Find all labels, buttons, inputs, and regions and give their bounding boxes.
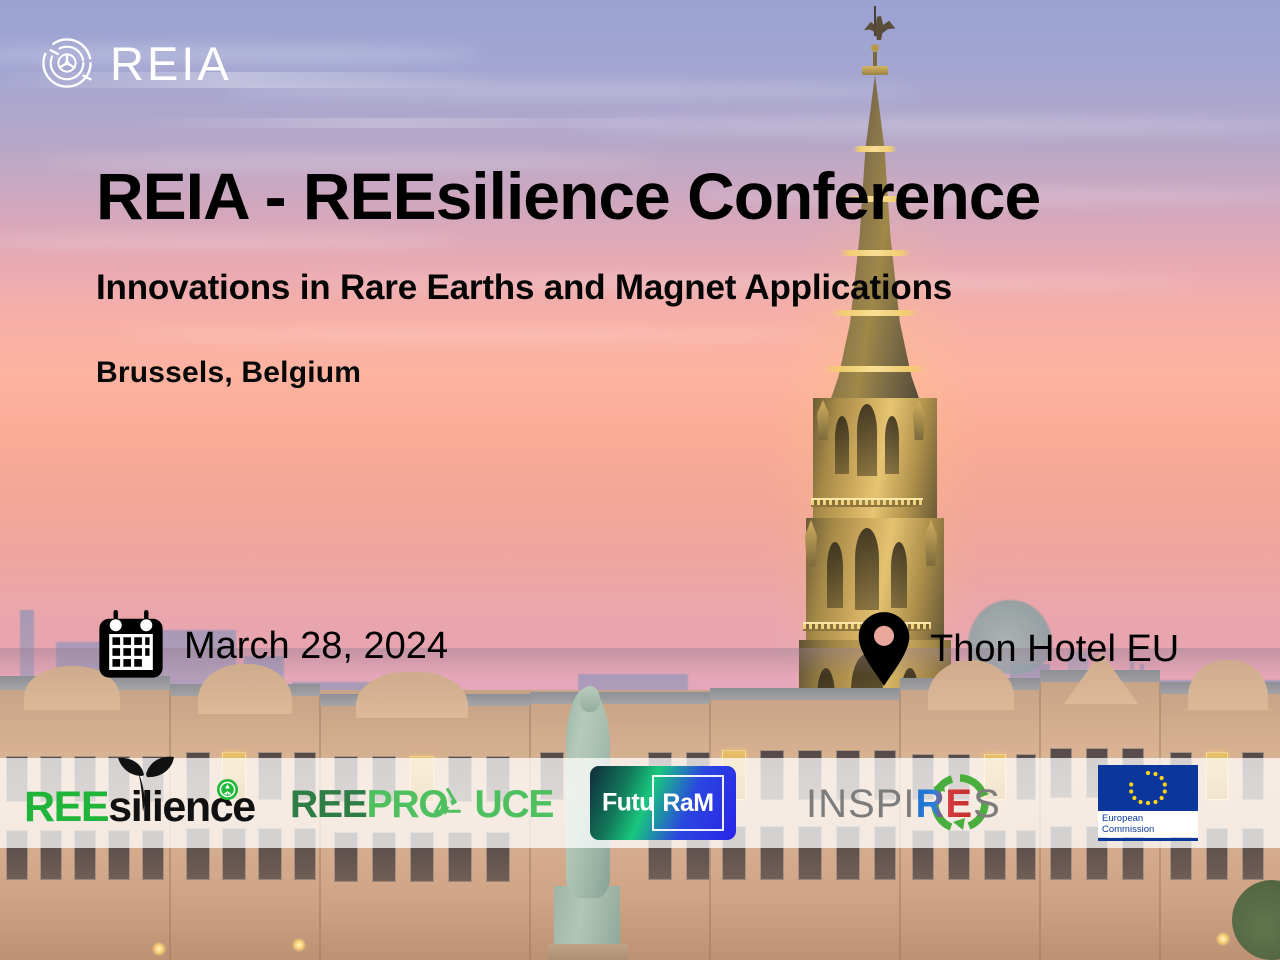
- hero-copy: REIA - REEsilience Conference Innovation…: [96, 162, 1040, 390]
- page-title: REIA - REEsilience Conference: [96, 162, 1040, 231]
- logo-futuram[interactable]: Futu RaM: [588, 758, 738, 848]
- eu-flag-icon: [1098, 765, 1198, 811]
- event-location: Brussels, Belgium: [96, 356, 1040, 390]
- reeproduce-uce: UCE: [474, 783, 553, 826]
- calendar-icon: [96, 610, 166, 682]
- event-details-row: March 28, 2024 Thon Hotel EU: [96, 608, 1192, 690]
- reia-logo[interactable]: REIA: [38, 34, 232, 92]
- recycle-triangle-icon: [425, 781, 469, 825]
- futuram-futu: Futu: [602, 789, 654, 818]
- inspires-wordmark: INSPIRES: [806, 784, 1001, 824]
- inspires-re: RE: [915, 782, 973, 826]
- logo-inspires[interactable]: INSPIRES: [800, 758, 1030, 848]
- event-venue-label: Thon Hotel EU: [930, 628, 1179, 671]
- reeproduce-wordmark: REEPRODUCE: [290, 785, 553, 824]
- map-pin-icon: [856, 610, 912, 688]
- logo-reeproduce[interactable]: REEPRODUCE: [280, 758, 530, 848]
- logo-european-commission[interactable]: European Commission: [1096, 758, 1200, 848]
- recycle-badge-icon: [216, 778, 239, 801]
- logo-reesilience[interactable]: REEsilience: [10, 758, 260, 848]
- futuram-box: RaM: [652, 775, 724, 831]
- saint-michael-statue-icon: [862, 14, 896, 40]
- reia-emblem-icon: [38, 34, 96, 92]
- reeproduce-ree: REE: [290, 783, 367, 826]
- inspires-inspi: INSPI: [806, 782, 915, 826]
- event-date-label: March 28, 2024: [184, 625, 448, 668]
- eu-caption-line-2: Commission: [1102, 825, 1194, 836]
- page-subtitle: Innovations in Rare Earths and Magnet Ap…: [96, 269, 1040, 308]
- event-venue: Thon Hotel EU: [856, 610, 1179, 688]
- conference-banner: REIA REIA - REEsilience Conference Innov…: [0, 0, 1280, 960]
- event-date: March 28, 2024: [96, 610, 448, 682]
- eu-caption-line-1: European: [1102, 814, 1194, 825]
- inspires-s: S: [973, 782, 1001, 826]
- eu-caption: European Commission: [1098, 811, 1198, 838]
- futuram-ram: RaM: [662, 789, 713, 818]
- reia-wordmark: REIA: [110, 40, 232, 87]
- eu-rule: [1098, 838, 1198, 841]
- partner-logo-bar: REEsilience REEPRODUCE: [0, 758, 1280, 848]
- reesilience-ree: REE: [24, 783, 108, 831]
